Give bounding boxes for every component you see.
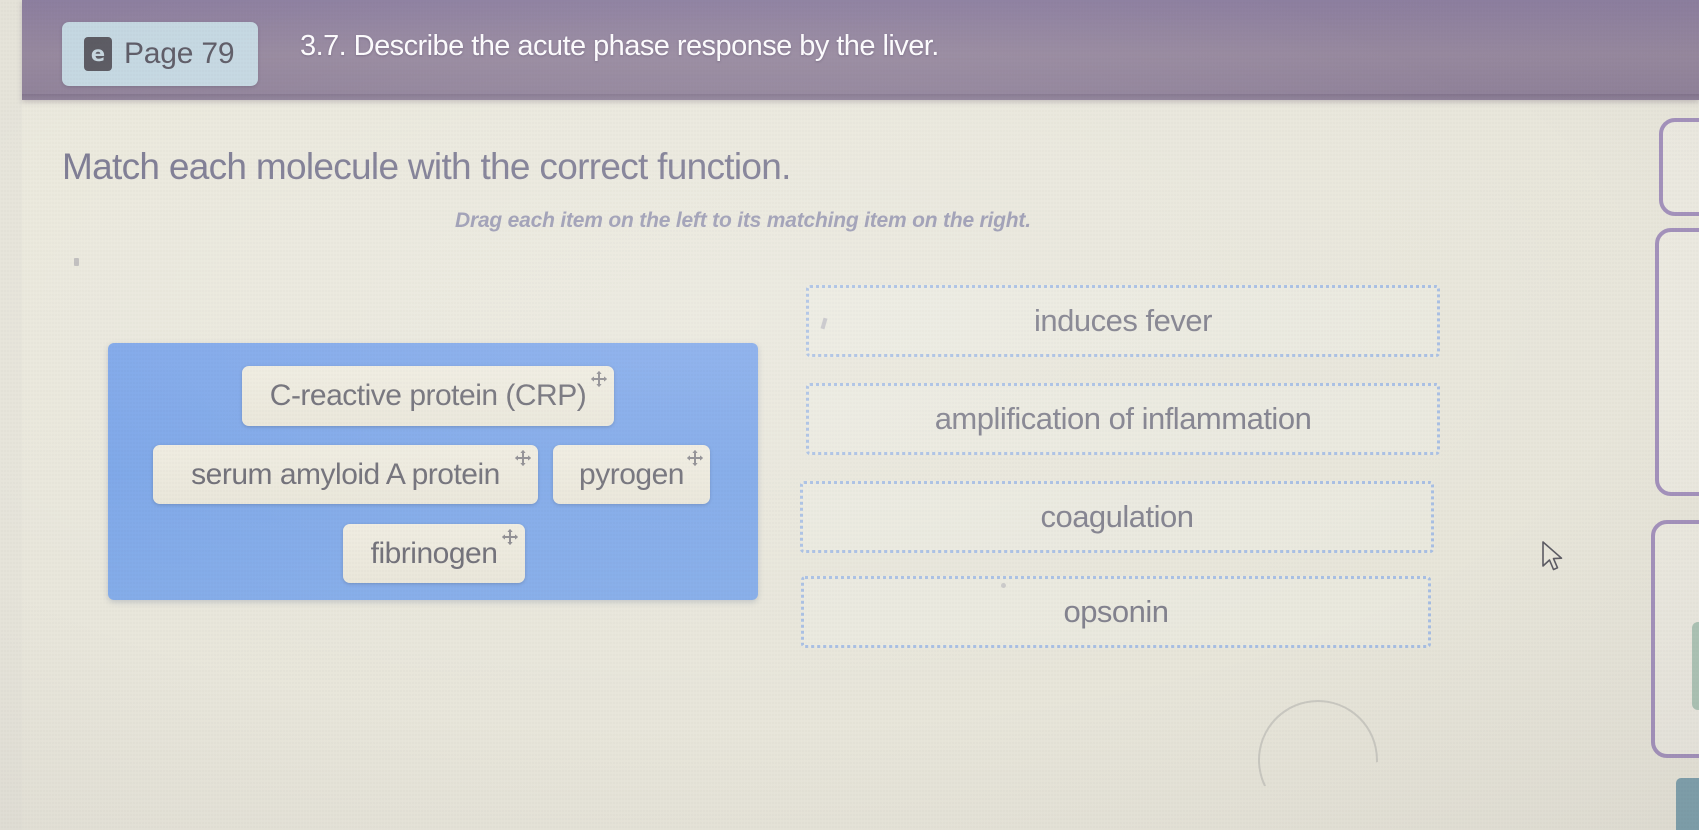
- drag-item-label: C-reactive protein (CRP): [270, 381, 586, 411]
- stray-mark: [74, 258, 79, 266]
- drag-item-c-reactive-protein[interactable]: C-reactive protein (CRP): [242, 366, 614, 426]
- page-badge-label: Page 79: [124, 37, 234, 71]
- drop-zone-label: amplification of inflammation: [935, 401, 1312, 437]
- drop-zone-induces-fever[interactable]: induces fever: [806, 285, 1440, 357]
- drop-zone-opsonin[interactable]: opsonin: [801, 576, 1431, 648]
- drag-instruction: Drag each item on the left to its matchi…: [455, 209, 1031, 233]
- drag-item-fibrinogen[interactable]: fibrinogen: [343, 524, 525, 583]
- header-bar: e Page 79 3.7. Describe the acute phase …: [22, 0, 1699, 100]
- drop-zone-label: coagulation: [1040, 499, 1193, 535]
- drag-item-label: pyrogen: [579, 460, 684, 490]
- drop-zone-label: opsonin: [1063, 594, 1168, 630]
- stray-mark: [1001, 583, 1006, 588]
- drag-item-label: serum amyloid A protein: [191, 460, 500, 490]
- drag-item-label: fibrinogen: [371, 539, 498, 569]
- photographed-screen: e Page 79 3.7. Describe the acute phase …: [0, 0, 1699, 830]
- move-arrows-icon[interactable]: [686, 449, 704, 467]
- header-title: 3.7. Describe the acute phase response b…: [300, 30, 939, 63]
- page-badge[interactable]: e Page 79: [62, 22, 258, 86]
- drop-zone-amplification-of-inflammation[interactable]: amplification of inflammation: [806, 383, 1440, 455]
- edge-panel-top[interactable]: [1659, 118, 1699, 216]
- book-page-icon: e: [84, 37, 112, 71]
- move-arrows-icon[interactable]: [501, 528, 519, 546]
- page-title: Match each molecule with the correct fun…: [62, 146, 791, 188]
- edge-panel-green-swatch: [1692, 622, 1699, 710]
- drag-item-serum-amyloid-a-protein[interactable]: serum amyloid A protein: [153, 445, 538, 504]
- edge-panel-middle[interactable]: [1655, 228, 1699, 496]
- page-badge-icon-glyph: e: [91, 44, 105, 65]
- move-arrows-icon[interactable]: [590, 370, 608, 388]
- drop-zone-coagulation[interactable]: coagulation: [800, 481, 1434, 553]
- drop-zone-label: induces fever: [1034, 303, 1212, 339]
- edge-panel-teal-swatch: [1676, 778, 1699, 830]
- move-arrows-icon[interactable]: [514, 449, 532, 467]
- drag-item-pyrogen[interactable]: pyrogen: [553, 445, 710, 504]
- drag-source-panel: C-reactive protein (CRP) serum amyloid A…: [108, 343, 758, 600]
